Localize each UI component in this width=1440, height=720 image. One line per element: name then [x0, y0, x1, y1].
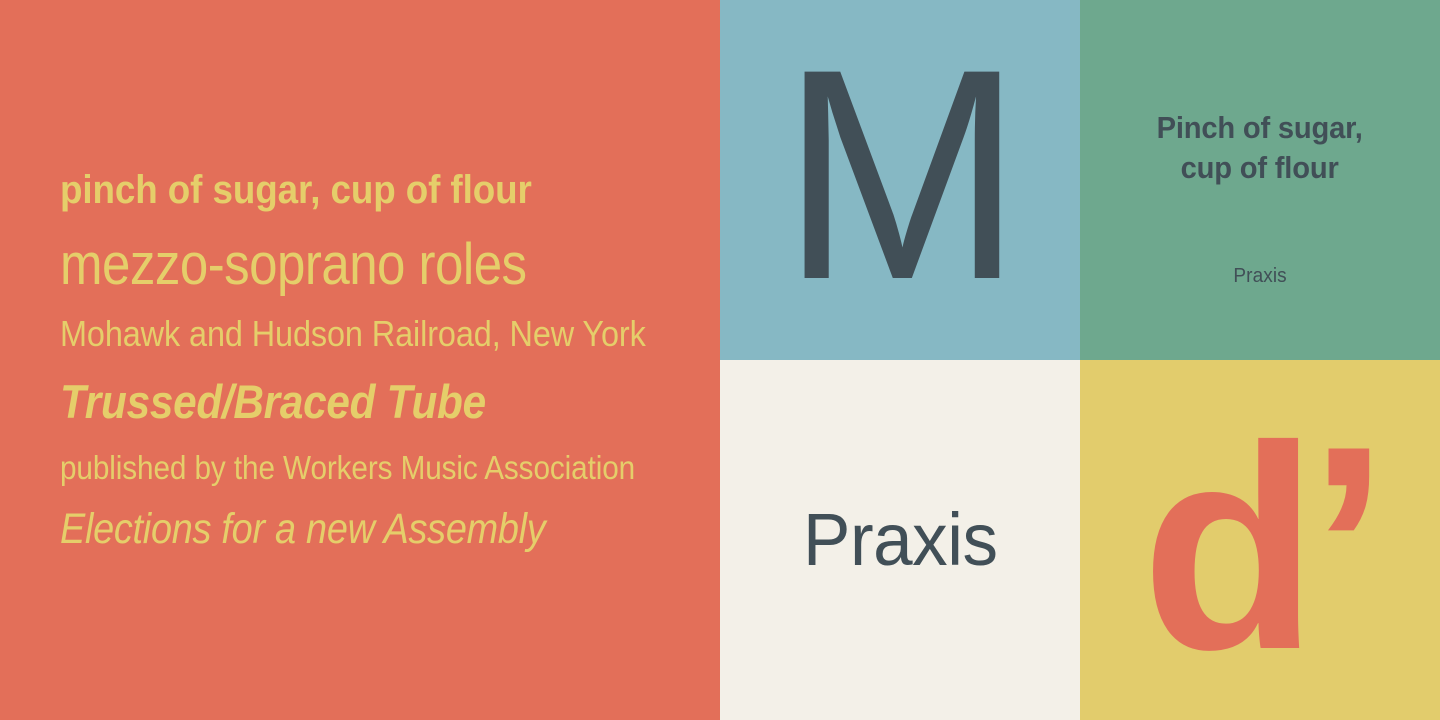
glyph-d-cell: d’: [1080, 360, 1440, 720]
specimen-line-light: mezzo-soprano roles: [60, 236, 597, 294]
specimen-line-regular: Mohawk and Hudson Railroad, New York: [60, 316, 609, 352]
phrase-headline-line-2: cup of flour: [1181, 150, 1339, 185]
letter-d-apostrophe-glyph: d’: [1141, 432, 1379, 664]
specimen-line-bold: pinch of sugar, cup of flour: [60, 170, 621, 210]
glyph-m-cell: M: [720, 0, 1080, 360]
family-name-cell: Praxis: [720, 360, 1080, 720]
phrase-cell: Pinch of sugar, cup of flour Praxis: [1080, 0, 1440, 360]
type-specimen-poster: pinch of sugar, cup of flour mezzo-sopra…: [0, 0, 1440, 720]
specimen-line-regular-two: published by the Workers Music Associati…: [60, 451, 609, 484]
phrase-headline-line-1: Pinch of sugar,: [1157, 110, 1363, 145]
letter-m-glyph: M: [781, 57, 1020, 291]
showcase-grid: M Pinch of sugar, cup of flour Praxis Pr…: [720, 0, 1440, 720]
phrase-headline: Pinch of sugar, cup of flour: [1157, 108, 1363, 189]
specimen-panel: pinch of sugar, cup of flour mezzo-sopra…: [0, 0, 720, 720]
specimen-line-list: pinch of sugar, cup of flour mezzo-sopra…: [60, 0, 670, 720]
typeface-name-label: Praxis: [1233, 265, 1286, 288]
typeface-family-name: Praxis: [803, 503, 998, 577]
specimen-line-bold-italic: Trussed/Braced Tube: [60, 378, 609, 425]
specimen-line-light-italic: Elections for a new Assembly: [60, 508, 597, 551]
